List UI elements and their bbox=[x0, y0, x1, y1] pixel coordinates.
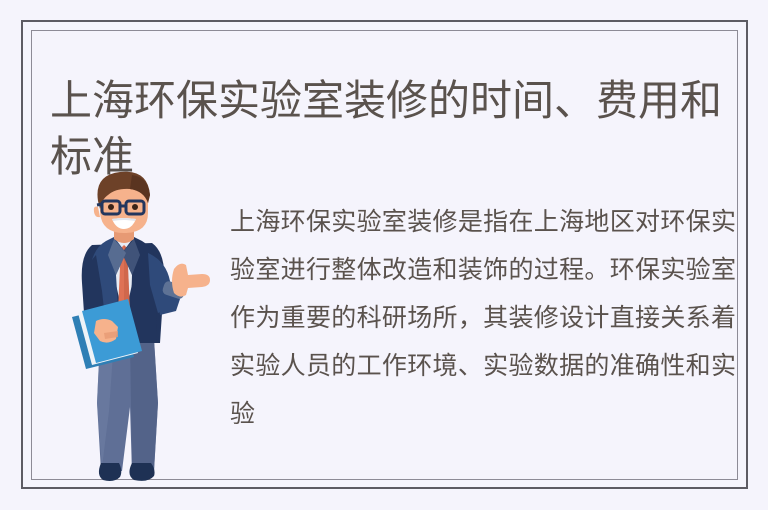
article-card-inner-frame: 上海环保实验室装修的时间、费用和标准 bbox=[31, 30, 738, 480]
article-card: 上海环保实验室装修的时间、费用和标准 bbox=[21, 20, 748, 489]
article-content: 上海环保实验室装修是指在上海地区对环保实验室进行整体改造和装饰的过程。环保实验室… bbox=[32, 171, 737, 479]
businessman-presenting-illustration bbox=[62, 171, 222, 486]
article-body-text: 上海环保实验室装修是指在上海地区对环保实验室进行整体改造和装饰的过程。环保实验室… bbox=[230, 198, 736, 438]
page-title: 上海环保实验室装修的时间、费用和标准 bbox=[50, 73, 740, 185]
